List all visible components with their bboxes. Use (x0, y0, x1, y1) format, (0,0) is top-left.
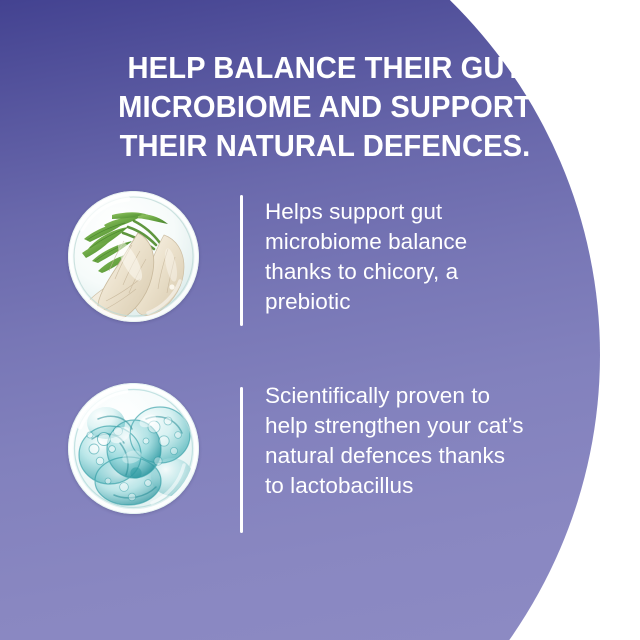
headline-line-3: THEIR NATURAL DEFENCES. (46, 126, 604, 165)
page-title: HELP BALANCE THEIR GUT MICROBIOME AND SU… (46, 48, 604, 165)
feature-text-chicory: Helps support gut microbiome balance tha… (265, 197, 527, 317)
lactobacillus-bubbles-petri-dish-image (68, 383, 199, 514)
infographic-panel: HELP BALANCE THEIR GUT MICROBIOME AND SU… (0, 0, 640, 640)
feature-row-lactobacillus: Scientifically proven to help strengthen… (68, 383, 527, 533)
feature-row-chicory: Helps support gut microbiome balance tha… (68, 191, 527, 340)
feature-text-lactobacillus: Scientifically proven to help strengthen… (265, 381, 527, 501)
headline-line-2: MICROBIOME AND SUPPORT (46, 87, 604, 126)
feature-divider-line-1 (240, 195, 243, 326)
headline-line-1: HELP BALANCE THEIR GUT (46, 48, 604, 87)
chicory-root-petri-dish-image (68, 191, 199, 322)
feature-divider-line-2 (240, 387, 243, 533)
